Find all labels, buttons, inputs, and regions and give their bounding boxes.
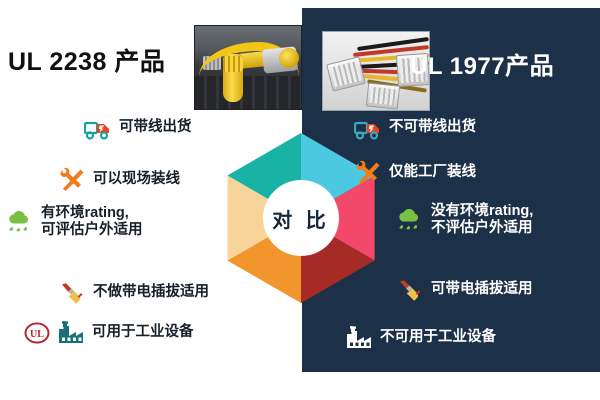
left-product-title: UL 2238 产品 [8,42,203,78]
right-feature-row-assembly: 仅能工厂装线 [354,160,476,186]
left-feature-row-shipping: 可带线出货 [84,115,192,141]
left-feature-label-environment: 有环境rating, 可评估户外适用 [41,205,143,239]
svg-text:UL: UL [30,329,44,340]
hexagon-center-circle: 对 比 [263,180,339,256]
right-feature-label-hotplug: 可带电插拔适用 [431,281,533,298]
factory-icon [345,325,373,351]
delivery-truck-icon [84,115,112,141]
left-feature-row-environment: 有环境rating, 可评估户外适用 [6,205,143,239]
right-feature-label-industrial: 不可用于工业设备 [380,329,496,346]
right-feature-label-shipping: 不可带线出货 [389,119,476,136]
tools-wrench-screwdriver-icon [58,167,86,193]
right-feature-label-environment: 没有环境rating, 不评估户外适用 [431,203,533,237]
left-product-photo [194,25,302,110]
left-feature-row-assembly: 可以现场装线 [58,167,180,193]
left-feature-label-industrial: 可用于工业设备 [92,324,194,341]
right-feature-row-hotplug: 可带电插拔适用 [396,277,533,303]
rain-cloud-icon [396,207,424,233]
ul-certification-badge: UL [24,322,50,344]
rain-cloud-icon [6,209,34,235]
electric-plug-icon [396,277,424,303]
delivery-truck-icon [354,115,382,141]
right-product-title: UL 1977产品 [410,46,600,81]
right-feature-label-assembly: 仅能工厂装线 [389,164,476,181]
hexagon-center-label: 对 比 [272,204,330,233]
left-feature-label-shipping: 可带线出货 [119,119,192,136]
right-feature-row-environment: 没有环境rating, 不评估户外适用 [396,203,533,237]
left-feature-row-hotplug: 不做带电插拔适用 [58,280,209,306]
infographic-canvas: UL 2238 产品 UL 1977产品 对 比 可带线出货 可以现场装线 [0,0,600,400]
tools-wrench-screwdriver-icon [354,160,382,186]
electric-plug-icon [58,280,86,306]
factory-icon [57,320,85,346]
hexagon-cube-graphic: 对 比 [216,133,386,303]
left-feature-label-assembly: 可以现场装线 [93,171,180,188]
right-feature-row-shipping: 不可带线出货 [354,115,476,141]
left-feature-label-hotplug: 不做带电插拔适用 [93,284,209,301]
right-feature-row-industrial: 不可用于工业设备 [345,325,496,351]
left-feature-row-industrial: UL 可用于工业设备 [24,320,194,346]
